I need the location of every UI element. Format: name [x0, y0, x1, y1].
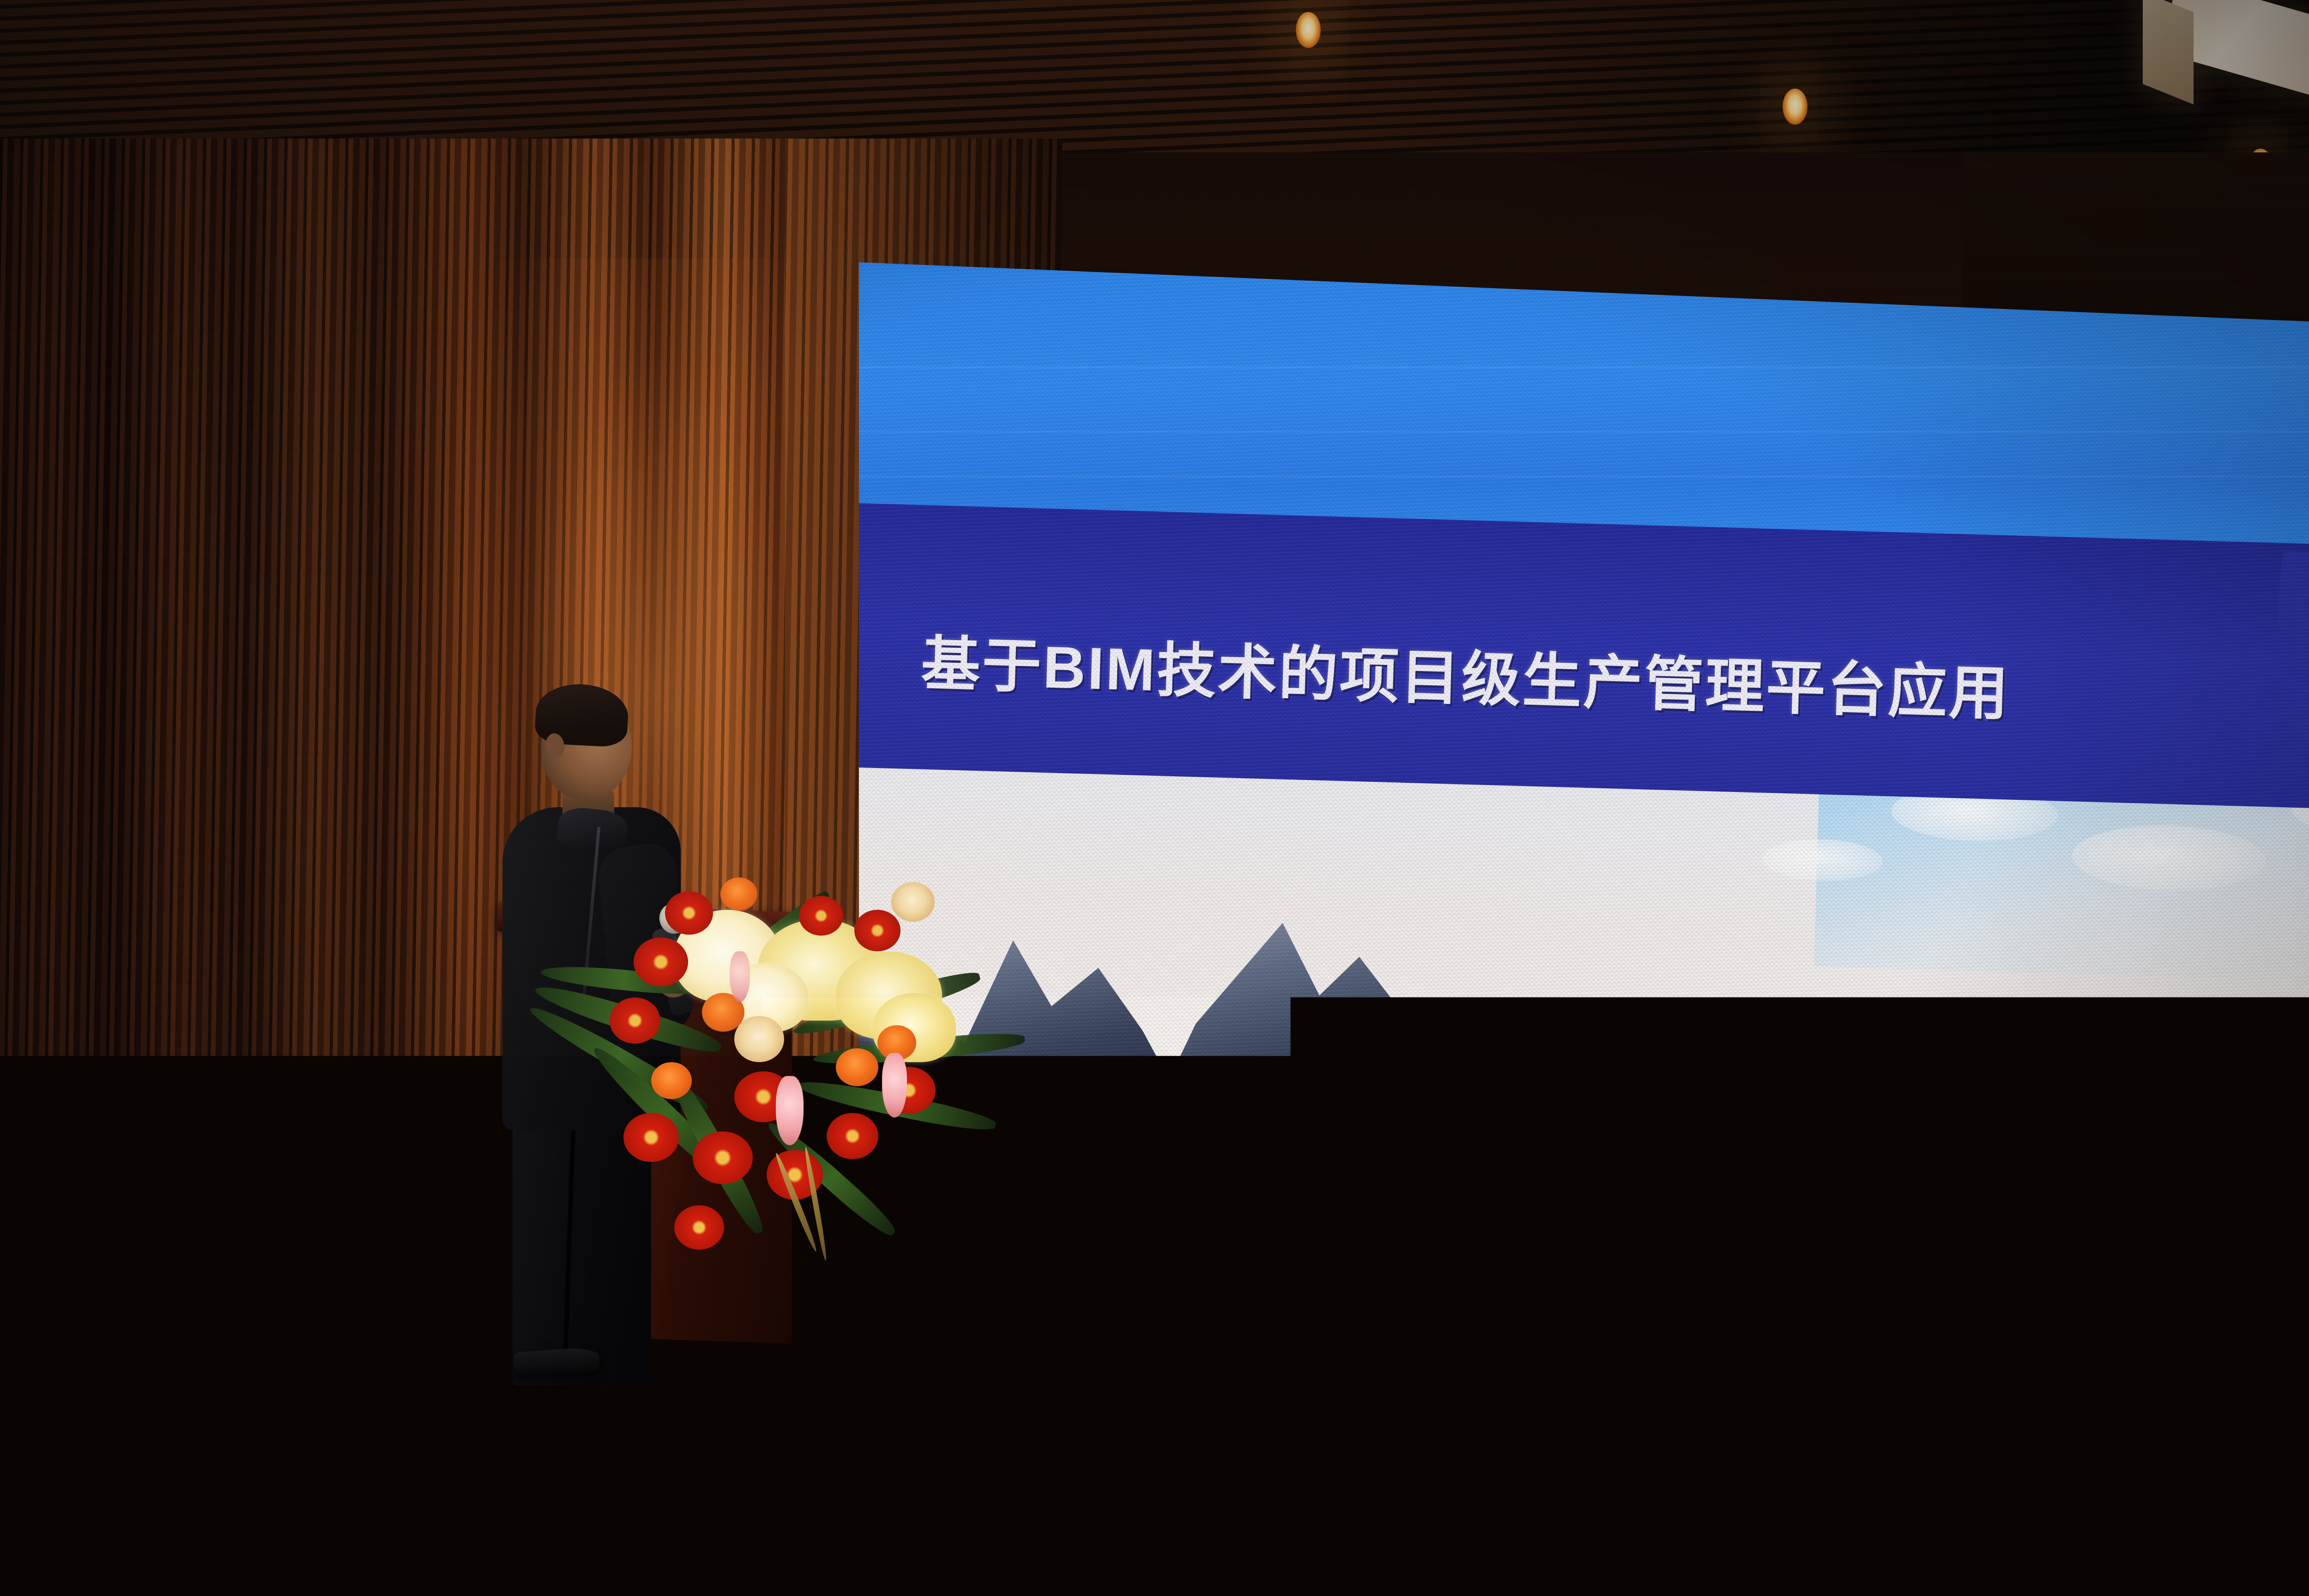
stage-scene-root: 基于BIM技术的项目级生产管理平台应用 河南科建建设工程有限公司 HENAN K… — [0, 0, 2309, 1596]
spray-buds — [882, 1053, 907, 1118]
plant-blade — [803, 1147, 828, 1261]
slide-red-swoosh — [2201, 456, 2309, 875]
ceiling-downlight-icon — [1783, 89, 1807, 125]
swoosh-inner — [2244, 551, 2309, 813]
plant-blade — [843, 1148, 874, 1250]
dried-plant-decor — [780, 1145, 891, 1284]
kejian-k-mark-icon — [1434, 998, 1504, 1078]
led-seam — [857, 476, 2309, 478]
gerbera-flower — [854, 910, 901, 951]
gerbera-flower — [665, 891, 713, 935]
company-name-block: 河南科建建设工程有限公司 HENAN KEJIAN CONSTRUCTION E… — [1517, 1009, 2089, 1085]
led-seam — [857, 366, 2309, 369]
led-seam — [857, 431, 2309, 433]
rose-flower — [734, 1016, 784, 1062]
plant-blade — [833, 1145, 845, 1256]
rose-flower — [891, 882, 935, 922]
gerbera-flower — [634, 937, 688, 986]
carnation-flower — [836, 1048, 878, 1086]
ceiling-downlight-icon — [1296, 12, 1321, 48]
carnation-flower — [720, 877, 757, 911]
carnation-flower — [651, 1062, 692, 1099]
gerbera-flower — [623, 1113, 679, 1162]
gerbera-flower — [693, 1131, 753, 1184]
gerbera-flower — [674, 1205, 724, 1250]
led-presentation-screen: 基于BIM技术的项目级生产管理平台应用 河南科建建设工程有限公司 HENAN K… — [857, 256, 2309, 1254]
gerbera-flower — [610, 997, 660, 1044]
slide-landscape-panel — [857, 740, 2309, 1254]
spray-buds — [776, 1076, 804, 1145]
gerbera-flower — [799, 896, 843, 936]
spray-buds — [730, 951, 750, 1002]
